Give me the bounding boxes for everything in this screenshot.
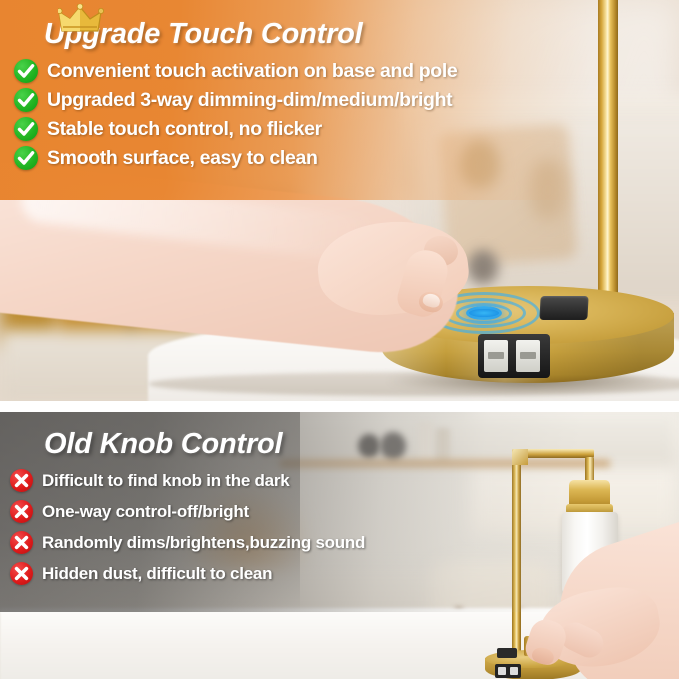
list-item: Difficult to find knob in the dark [10, 469, 679, 492]
dark-decor-object [468, 250, 498, 284]
list-item: Convenient touch activation on base and … [14, 59, 679, 83]
list-item-label: Convenient touch activation on base and … [47, 60, 457, 83]
x-circle-icon [10, 500, 33, 523]
x-circle-icon [10, 562, 33, 585]
top-panel-content: Upgrade Touch Control Convenient touch a… [0, 0, 679, 175]
ac-outlet [539, 296, 588, 320]
usb-port-right [516, 340, 540, 372]
base-usb-ports [495, 664, 521, 678]
ripple-core [466, 306, 502, 320]
usb-port-left [484, 340, 508, 372]
list-item-label: Smooth surface, easy to clean [47, 147, 318, 170]
check-circle-icon [14, 59, 38, 83]
upgrade-panel: Upgrade Touch Control Convenient touch a… [0, 0, 679, 401]
list-item-label: Hidden dust, difficult to clean [42, 564, 272, 584]
x-circle-icon [10, 469, 33, 492]
upgrade-benefit-list: Convenient touch activation on base and … [0, 59, 679, 170]
list-item: Upgraded 3-way dimming-dim/medium/bright [14, 88, 679, 112]
list-item: Stable touch control, no flicker [14, 117, 679, 141]
list-item: One-way control-off/bright [10, 500, 679, 523]
check-circle-icon [14, 146, 38, 170]
old-knob-title: Old Knob Control [44, 428, 679, 461]
base-ac-outlet [497, 648, 517, 658]
list-item-label: Upgraded 3-way dimming-dim/medium/bright [47, 89, 452, 112]
panel-divider [0, 401, 679, 412]
old-knob-panel: Old Knob Control Difficult to find knob … [0, 412, 679, 679]
list-item-label: Difficult to find knob in the dark [42, 471, 289, 491]
check-circle-icon [14, 88, 38, 112]
list-item-label: One-way control-off/bright [42, 502, 249, 522]
list-item: Smooth surface, easy to clean [14, 146, 679, 170]
crown-icon [58, 4, 104, 34]
bottom-panel-content: Old Knob Control Difficult to find knob … [0, 412, 679, 593]
list-item-label: Stable touch control, no flicker [47, 118, 322, 141]
list-item-label: Randomly dims/brightens,buzzing sound [42, 533, 365, 553]
upgrade-title-wrap: Upgrade Touch Control [44, 18, 679, 51]
old-knob-drawback-list: Difficult to find knob in the dark One-w… [0, 469, 679, 585]
x-circle-icon [10, 531, 33, 554]
list-item: Hidden dust, difficult to clean [10, 562, 679, 585]
list-item: Randomly dims/brightens,buzzing sound [10, 531, 679, 554]
comparison-infographic: Upgrade Touch Control Convenient touch a… [0, 0, 679, 679]
check-circle-icon [14, 117, 38, 141]
